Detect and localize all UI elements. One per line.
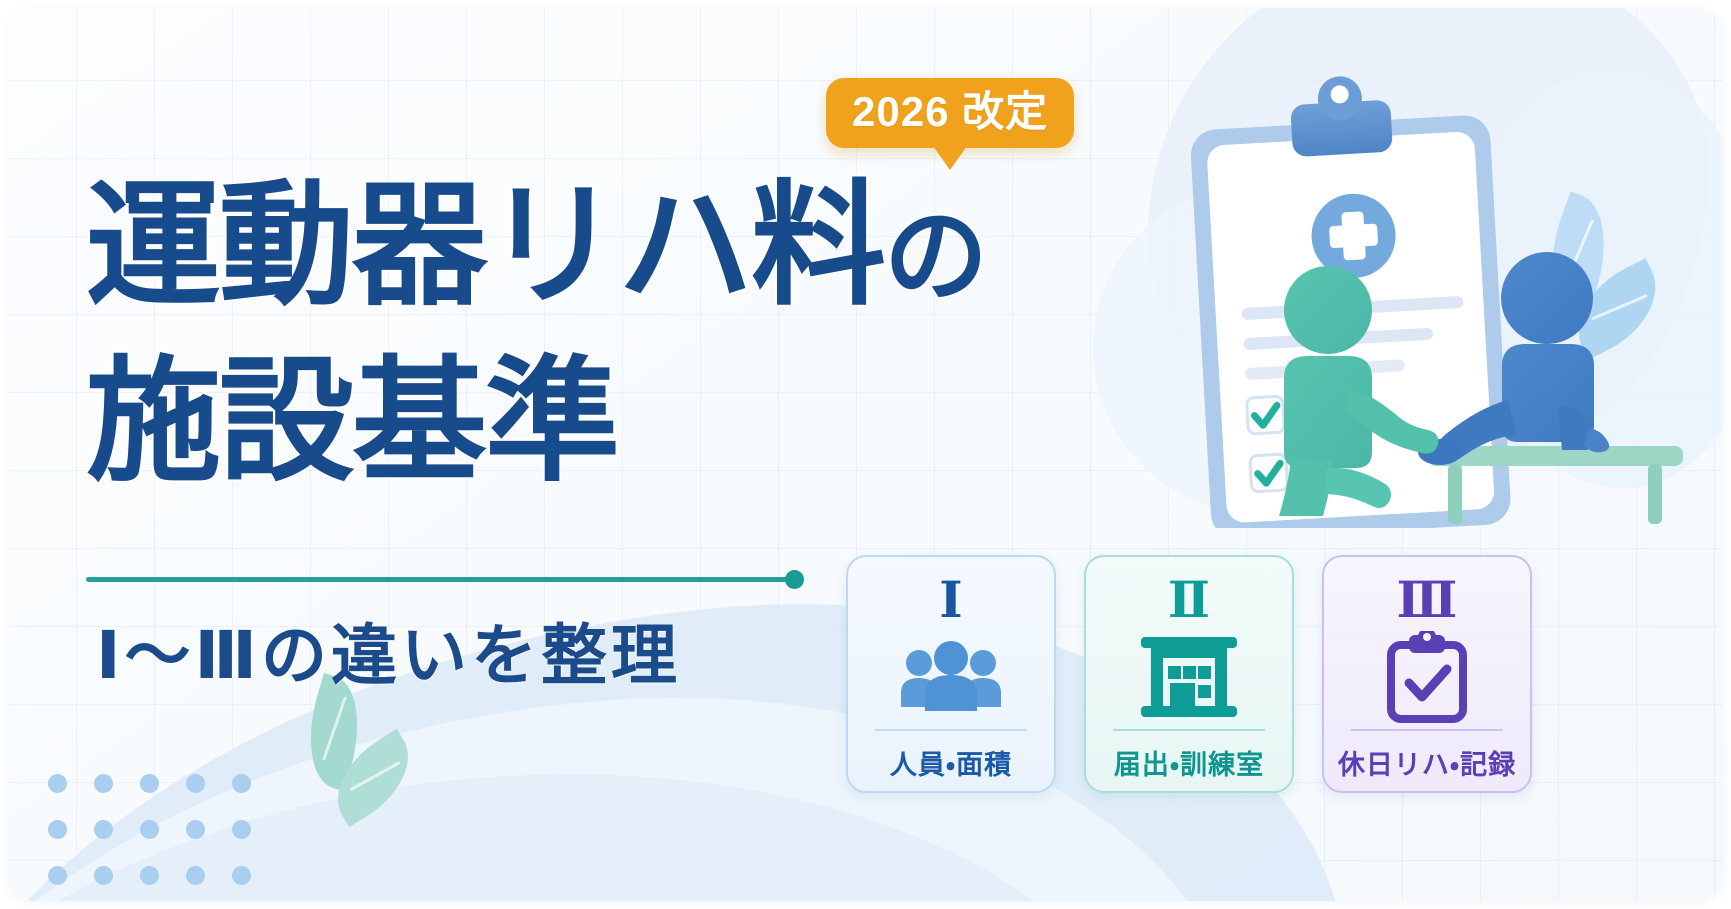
card-separator (1351, 729, 1503, 731)
feature-card-2[interactable]: Ⅱ 届出・訓練室 (1084, 555, 1294, 793)
feature-card-list: Ⅰ 人員・面積 Ⅱ (846, 555, 1532, 793)
headline-line-1: 運動器リハ料の (86, 158, 986, 334)
card-numeral: Ⅱ (1168, 575, 1210, 625)
headline-line-1-main: 運動器リハ料 (86, 170, 884, 321)
rehabilitation-illustration (1088, 48, 1723, 528)
headline-block: 運動器リハ料の 施設基準 (86, 158, 986, 509)
revision-year-badge[interactable]: 2026 改定 (826, 78, 1074, 148)
people-group-icon (895, 629, 1007, 725)
card-separator (1113, 729, 1265, 731)
banner-plate: 2026 改定 運動器リハ料の 施設基準 Ⅰ～Ⅲの違いを整理 Ⅰ (8, 8, 1723, 901)
card-label: 人員・面積 (890, 743, 1012, 782)
clipboard-check-icon (1384, 629, 1470, 725)
headline-divider (86, 577, 798, 582)
infographic-banner: 2026 改定 運動器リハ料の 施設基準 Ⅰ～Ⅲの違いを整理 Ⅰ (0, 0, 1731, 909)
headline-line-1-suffix: の (884, 199, 986, 315)
card-numeral: Ⅰ (939, 575, 962, 625)
hospital-building-icon (1137, 629, 1241, 725)
badge-label: 2026 改定 (852, 90, 1048, 134)
dot-grid-decoration (48, 774, 278, 901)
card-label: 届出・訓練室 (1114, 743, 1264, 782)
subtitle: Ⅰ～Ⅲの違いを整理 (96, 602, 681, 698)
headline-line-2: 施設基準 (86, 334, 986, 510)
card-separator (875, 729, 1027, 731)
feature-card-1[interactable]: Ⅰ 人員・面積 (846, 555, 1056, 793)
feature-card-3[interactable]: Ⅲ 休日リハ・記録 (1322, 555, 1532, 793)
card-label: 休日リハ・記録 (1338, 743, 1516, 782)
card-numeral: Ⅲ (1397, 575, 1458, 625)
